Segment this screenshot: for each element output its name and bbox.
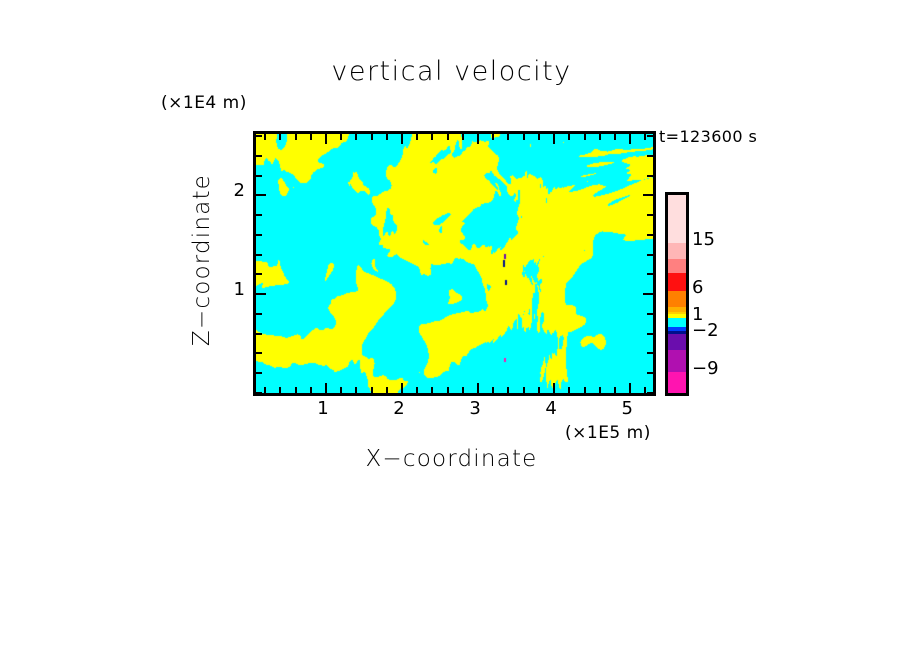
plot-area <box>253 131 656 396</box>
x-tick-mark-top <box>538 134 540 140</box>
colorbar-tick-label: 6 <box>692 277 703 298</box>
x-tick-mark <box>477 383 479 393</box>
contour-figure: vertical velocity (×1E4 m) t=123600 s 12… <box>0 0 904 654</box>
colorbar-band <box>668 291 686 307</box>
x-tick-mark-top <box>279 134 281 140</box>
x-tick-mark <box>295 387 297 393</box>
y-tick-mark-right <box>647 392 653 394</box>
x-tick-mark-top <box>371 134 373 140</box>
y-tick-mark-right <box>647 372 653 374</box>
colorbar-tick-label: −9 <box>692 358 719 379</box>
y-tick-mark-right <box>647 135 653 137</box>
page-title: vertical velocity <box>253 56 650 87</box>
x-tick-mark <box>629 383 631 393</box>
x-tick-mark-top <box>401 134 403 144</box>
colorbar-band <box>668 273 686 292</box>
y-tick-mark-right <box>647 175 653 177</box>
x-tick-mark-top <box>462 134 464 140</box>
colorbar <box>665 192 689 396</box>
x-tick-mark-top <box>568 134 570 140</box>
x-tick-label: 2 <box>384 398 414 419</box>
x-tick-mark <box>507 387 509 393</box>
x-tick-mark <box>325 383 327 393</box>
x-tick-mark <box>538 387 540 393</box>
y-tick-mark <box>256 155 262 157</box>
y-tick-mark <box>256 313 262 315</box>
x-tick-mark <box>492 387 494 393</box>
x-tick-mark-top <box>477 134 479 144</box>
colorbar-band <box>668 334 686 350</box>
x-tick-mark-top <box>629 134 631 144</box>
x-tick-mark <box>310 387 312 393</box>
x-axis-units-label: (×1E5 m) <box>565 423 651 443</box>
colorbar-band <box>668 195 686 243</box>
x-tick-mark <box>553 383 555 393</box>
colorbar-band <box>668 350 686 371</box>
x-tick-mark-top <box>492 134 494 140</box>
colorbar-tick-label: −2 <box>692 320 719 341</box>
x-tick-mark <box>264 387 266 393</box>
x-tick-mark <box>431 387 433 393</box>
x-tick-mark-top <box>614 134 616 140</box>
x-tick-mark <box>416 387 418 393</box>
x-tick-mark <box>401 383 403 393</box>
y-tick-mark-right <box>647 214 653 216</box>
y-tick-mark-right <box>647 333 653 335</box>
x-tick-label: 1 <box>308 398 338 419</box>
x-tick-label: 5 <box>612 398 642 419</box>
x-tick-mark <box>279 387 281 393</box>
time-annotation: t=123600 s <box>659 127 757 146</box>
contour-field-canvas <box>256 134 653 393</box>
y-tick-mark <box>256 293 266 295</box>
y-tick-mark-right <box>647 352 653 354</box>
x-tick-mark-top <box>523 134 525 140</box>
x-tick-mark-top <box>340 134 342 140</box>
y-tick-mark <box>256 214 262 216</box>
x-tick-mark-top <box>584 134 586 140</box>
x-tick-mark-top <box>295 134 297 140</box>
x-tick-mark <box>584 387 586 393</box>
colorbar-band <box>668 318 686 327</box>
x-tick-mark-top <box>416 134 418 140</box>
y-tick-mark-right <box>647 234 653 236</box>
y-tick-mark <box>256 352 262 354</box>
y-tick-mark-right <box>647 273 653 275</box>
y-tick-label: 1 <box>215 279 245 300</box>
x-tick-mark-top <box>553 134 555 144</box>
x-tick-mark <box>614 387 616 393</box>
x-tick-mark <box>523 387 525 393</box>
y-tick-mark-right <box>643 194 653 196</box>
x-tick-mark <box>599 387 601 393</box>
y-tick-mark <box>256 273 262 275</box>
y-tick-mark <box>256 194 266 196</box>
colorbar-band <box>668 259 686 272</box>
x-tick-mark-top <box>355 134 357 140</box>
y-tick-mark <box>256 333 262 335</box>
x-tick-mark <box>340 387 342 393</box>
x-tick-mark <box>568 387 570 393</box>
colorbar-band <box>668 243 686 259</box>
colorbar-tick-label: 15 <box>692 229 715 250</box>
y-axis-units-label: (×1E4 m) <box>161 93 247 113</box>
y-tick-mark <box>256 234 262 236</box>
x-tick-label: 4 <box>536 398 566 419</box>
y-tick-mark-right <box>643 293 653 295</box>
x-tick-mark <box>462 387 464 393</box>
y-tick-mark <box>256 175 262 177</box>
x-tick-mark-top <box>507 134 509 140</box>
y-tick-mark <box>256 254 262 256</box>
x-tick-mark-top <box>310 134 312 140</box>
y-tick-mark-right <box>647 254 653 256</box>
x-tick-mark-top <box>264 134 266 140</box>
x-tick-mark <box>355 387 357 393</box>
x-tick-mark <box>371 387 373 393</box>
x-axis-title: X−coordinate <box>253 446 650 472</box>
x-tick-mark-top <box>431 134 433 140</box>
colorbar-band <box>668 372 686 393</box>
x-tick-mark <box>386 387 388 393</box>
x-tick-mark <box>447 387 449 393</box>
y-tick-mark-right <box>647 155 653 157</box>
y-tick-mark-right <box>647 313 653 315</box>
x-tick-mark-top <box>386 134 388 140</box>
x-tick-mark-top <box>325 134 327 144</box>
y-tick-mark <box>256 392 262 394</box>
y-tick-label: 2 <box>215 180 245 201</box>
y-tick-mark <box>256 372 262 374</box>
x-tick-label: 3 <box>460 398 490 419</box>
y-tick-mark <box>256 135 262 137</box>
y-axis-title: Z−coordinate <box>189 160 219 360</box>
x-tick-mark-top <box>447 134 449 140</box>
x-tick-mark-top <box>599 134 601 140</box>
